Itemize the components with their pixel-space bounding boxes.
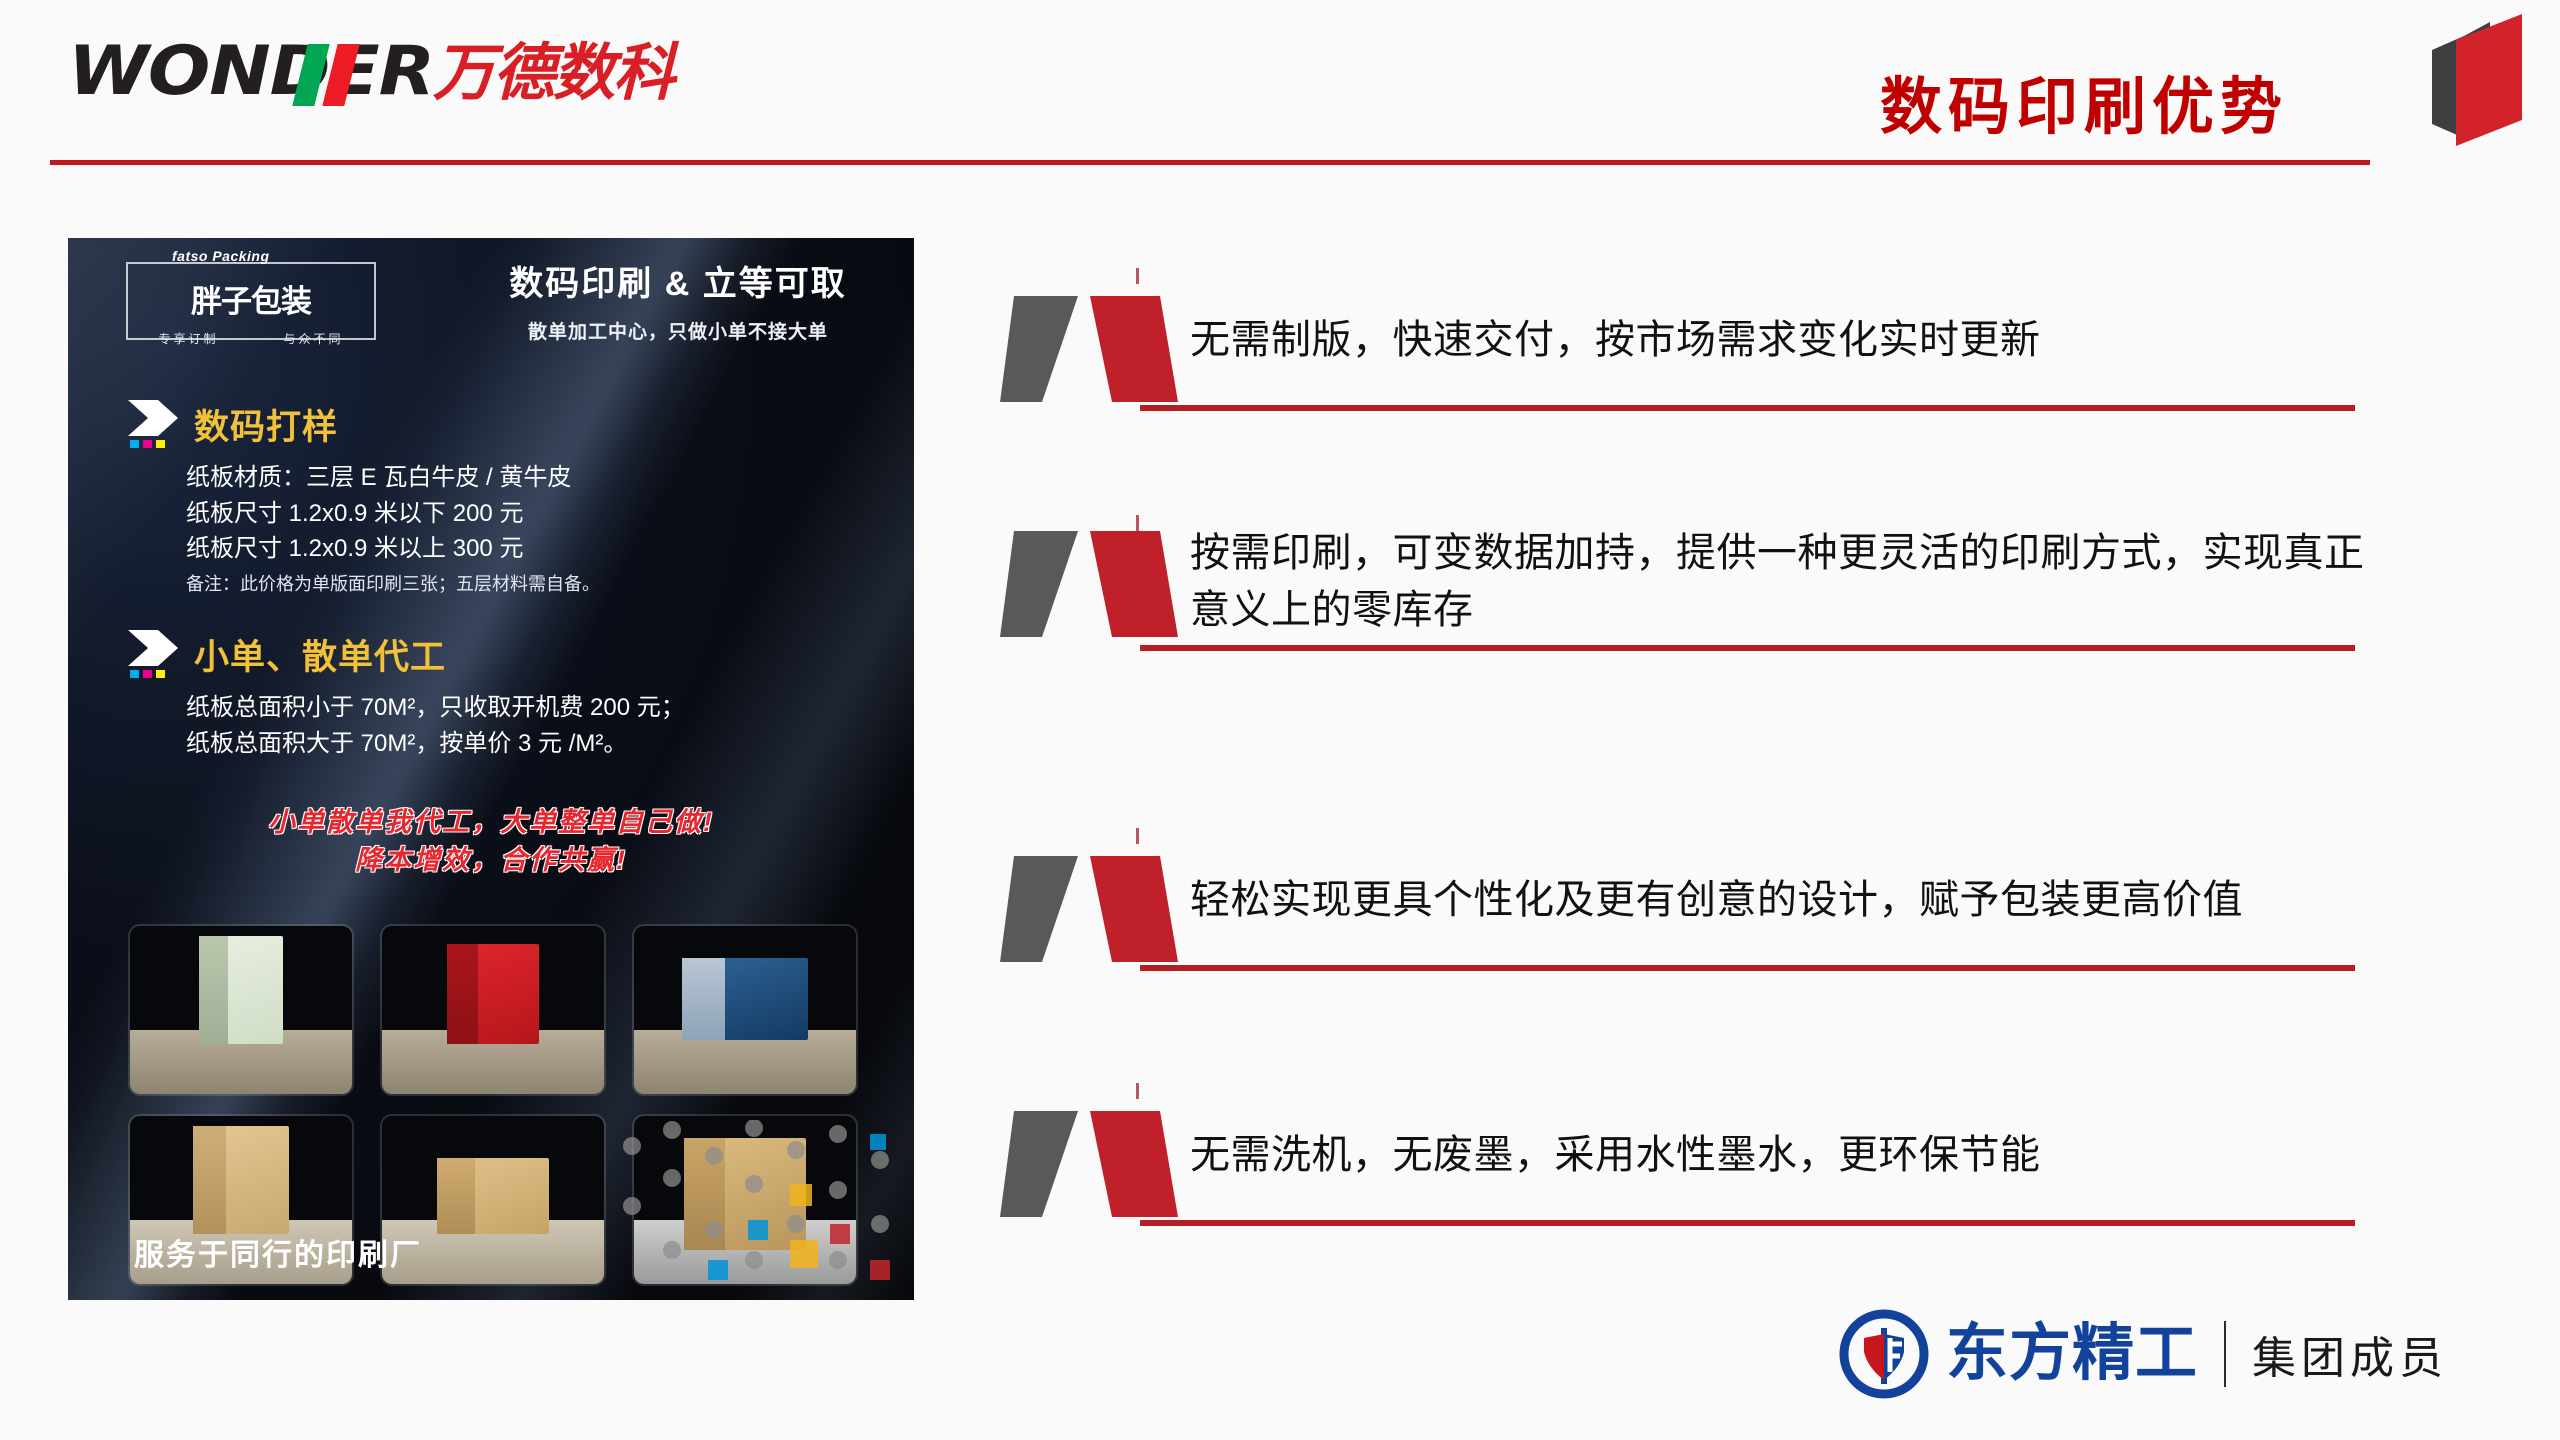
fatso-logo-box: 胖子包装: [126, 262, 376, 340]
poster-section-1-line-3: 纸板尺寸 1.2x0.9 米以上 300 元: [186, 531, 600, 567]
poster-photo-honey-gift-box: [130, 926, 352, 1094]
double-chevron-icon: [1000, 850, 1200, 968]
bullet-1-tick: [1136, 268, 1139, 284]
wonder-wordmark: WONDER 万德数科: [68, 38, 673, 106]
wonder-logo-cn: 万德数科: [433, 42, 673, 104]
bullet-3-text: 轻松实现更具个性化及更有创意的设计，赋予包装更高价值: [1190, 872, 2400, 929]
poster-section-1-title: 数码打样: [194, 399, 338, 450]
bullet-1-text: 无需制版，快速交付，按市场需求变化实时更新: [1190, 312, 2400, 369]
slide: WONDER 万德数科 数码印刷优势 胖子包装 fatso Packing 专享…: [0, 0, 2560, 1440]
poster-subheadline: 散单加工中心，只做小单不接大单: [468, 317, 888, 344]
bullet-3-tick: [1136, 828, 1139, 844]
poster-section-2-title: 小单、散单代工: [194, 629, 446, 680]
cmyk-chevron-icon: [124, 628, 184, 680]
fatso-tag-right: 与众不同: [283, 330, 343, 347]
group-member-logo: 东方精工 集团成员: [1838, 1308, 2448, 1400]
fatso-tag-left: 专享订制: [158, 330, 218, 347]
page-title: 数码印刷优势: [1880, 56, 2288, 146]
group-member-text: 集团成员: [2252, 1322, 2448, 1386]
poster-headline-group: 数码印刷 & 立等可取 散单加工中心，只做小单不接大单: [468, 256, 888, 344]
poster-section-2-title-row: 小单、散单代工: [124, 628, 685, 680]
poster-section-1-lines: 纸板材质：三层 E 瓦白牛皮 / 黄牛皮 纸板尺寸 1.2x0.9 米以下 20…: [186, 460, 600, 597]
poster-section-2-line-2: 纸板总面积大于 70M²，按单价 3 元 /M²。: [186, 726, 685, 762]
poster-section-1-note: 备注：此价格为单版面印刷三张；五层材料需自备。: [186, 571, 600, 598]
fatso-logo-en: fatso Packing: [172, 248, 270, 264]
poster-section-2: 小单、散单代工 纸板总面积小于 70M²，只收取开机费 200 元； 纸板总面积…: [124, 628, 685, 761]
group-logo-cn: 东方精工: [1946, 1323, 2198, 1385]
poster-section-1-line-1: 纸板材质：三层 E 瓦白牛皮 / 黄牛皮: [186, 460, 600, 496]
bullet-1-rule: [1140, 405, 2355, 411]
fatso-taglines: 专享订制 与众不同: [126, 330, 376, 347]
dongfang-jingong-shield-icon: [1838, 1308, 1930, 1400]
poster-section-1-title-row: 数码打样: [124, 398, 600, 450]
bullet-3-rule: [1140, 965, 2355, 971]
poster-section-2-lines: 纸板总面积小于 70M²，只收取开机费 200 元； 纸板总面积大于 70M²，…: [186, 690, 685, 761]
dots-decoration: [614, 1120, 914, 1300]
poster-photo-red-gift-box: [382, 926, 604, 1094]
poster-headline: 数码印刷 & 立等可取: [468, 256, 888, 305]
bullet-2-rule: [1140, 645, 2355, 651]
poster-slogan-line-1: 小单散单我代工，大单整单自己做!: [68, 803, 914, 841]
poster-section-1: 数码打样 纸板材质：三层 E 瓦白牛皮 / 黄牛皮 纸板尺寸 1.2x0.9 米…: [124, 398, 600, 597]
double-chevron-icon: [1000, 525, 1200, 643]
footer-logo-divider: [2224, 1321, 2226, 1387]
double-chevron-icon: [1000, 1105, 1200, 1223]
double-chevron-icon: [1000, 290, 1200, 408]
bullet-4-rule: [1140, 1220, 2355, 1226]
poster-section-1-line-2: 纸板尺寸 1.2x0.9 米以下 200 元: [186, 496, 600, 532]
bullet-2-text: 按需印刷，可变数据加持，提供一种更灵活的印刷方式，实现真正意义上的零库存: [1190, 525, 2380, 639]
wonder-brand-logo: WONDER 万德数科: [68, 36, 828, 108]
poster-slogan: 小单散单我代工，大单整单自己做! 降本增效，合作共赢!: [68, 803, 914, 880]
poster-image: 胖子包装 fatso Packing 专享订制 与众不同 数码印刷 & 立等可取…: [68, 238, 914, 1300]
header-divider: [50, 160, 2370, 165]
fatso-logo-cn: 胖子包装: [191, 286, 311, 317]
corner-parallelogram-icon: [2428, 6, 2532, 168]
poster-photo-beef-jerky-box: [634, 926, 856, 1094]
bullet-4-tick: [1136, 1083, 1139, 1099]
poster-slogan-line-2: 降本增效，合作共赢!: [68, 841, 914, 879]
bullet-4-text: 无需洗机，无废墨，采用水性墨水，更环保节能: [1190, 1127, 2400, 1184]
poster-section-2-line-1: 纸板总面积小于 70M²，只收取开机费 200 元；: [186, 690, 685, 726]
cmyk-chevron-icon: [124, 398, 184, 450]
wonder-logo-en: WONDER: [68, 38, 434, 106]
poster-footer-text: 服务于同行的印刷厂: [134, 1230, 422, 1274]
